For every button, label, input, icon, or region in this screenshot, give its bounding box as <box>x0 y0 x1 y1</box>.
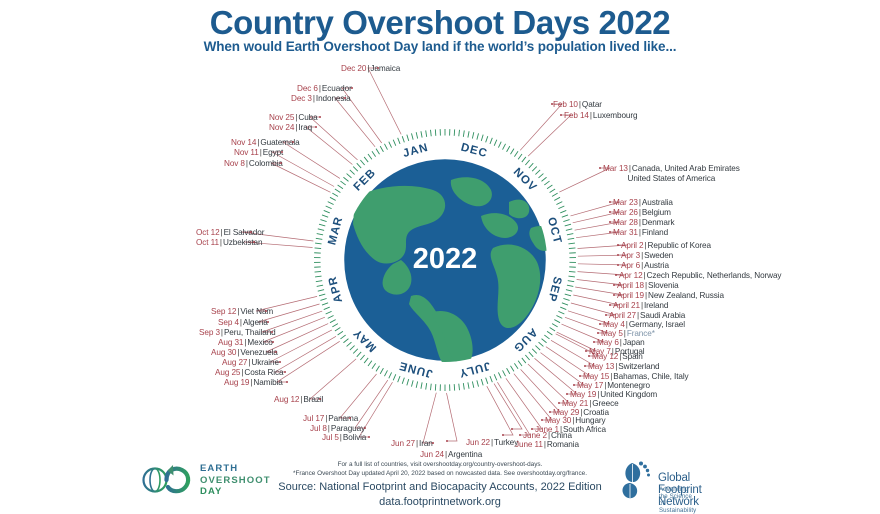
country-name: Colombia <box>249 159 283 168</box>
overshoot-date: May 15 <box>583 372 609 381</box>
leader-dot <box>286 381 288 383</box>
overshoot-date: April 2 <box>621 241 644 250</box>
overshoot-date: Mar 13 <box>603 164 628 173</box>
country-name: Australia <box>642 198 673 207</box>
overshoot-date: Nov 25 <box>269 113 294 122</box>
country-name: Romania <box>547 440 579 449</box>
earth-overshoot-day-logo: EARTH OVERSHOOT DAY <box>140 460 198 505</box>
overshoot-date: Aug 27 <box>222 358 247 367</box>
leader-dot <box>432 442 434 444</box>
country-label: Aug 27|Ukraine <box>222 358 279 368</box>
country-label: Sep 4|Algeria <box>218 318 268 328</box>
country-name: Czech Republic, Netherlands, Norway <box>647 271 782 280</box>
overshoot-date: Apr 6 <box>621 261 640 270</box>
country-label: Oct 11|Uzbekistan <box>196 238 262 248</box>
country-label: Nov 24|Iraq <box>269 123 312 133</box>
country-label: Nov 8|Colombia <box>224 159 283 169</box>
country-label: April 18|Slovenia <box>617 281 679 291</box>
country-label: Sep 3|Peru, Thailand <box>199 328 276 338</box>
country-label: Sep 12|Viet Nam <box>211 307 273 317</box>
overshoot-date: April 27 <box>609 311 636 320</box>
country-name: Japan <box>623 338 645 347</box>
overshoot-date: May 13 <box>588 362 614 371</box>
overshoot-date: April 18 <box>617 281 644 290</box>
gfn-tagline: Advancing the Science of Sustainability <box>659 486 696 514</box>
leader-dot <box>593 341 595 343</box>
footer-note-2: *France Overshoot Day updated April 20, … <box>0 470 880 478</box>
country-name: Egypt <box>263 148 283 157</box>
country-label: Aug 31|Mexico <box>218 338 273 348</box>
leader-dot <box>272 341 274 343</box>
country-label: Aug 30|Venezuela <box>211 348 278 358</box>
leader-dot <box>549 411 551 413</box>
overshoot-date: Nov 24 <box>269 123 294 132</box>
country-name: Hungary <box>575 416 605 425</box>
overshoot-date: May 19 <box>570 390 596 399</box>
globe-year: 2022 <box>413 243 478 275</box>
country-name: Uzbekistan <box>223 238 263 247</box>
country-name: Ukraine <box>251 358 279 367</box>
overshoot-date: April 21 <box>613 301 640 310</box>
country-name: El Salvador <box>224 228 265 237</box>
country-label: April 21|Ireland <box>613 301 668 311</box>
country-label: April 19|New Zealand, Russia <box>617 291 724 301</box>
overshoot-date: May 4 <box>603 320 625 329</box>
leader-dot <box>351 87 353 89</box>
eod-logo-line3: DAY <box>200 486 271 498</box>
country-label: Jun 22|Turkey <box>466 438 518 448</box>
country-label: April 2|Republic of Korea <box>621 241 711 251</box>
country-label: Dec 3|Indonesia <box>291 94 351 104</box>
eod-logo-line2: OVERSHOOT <box>200 475 271 487</box>
eod-logo-line1: EARTH <box>200 463 271 475</box>
country-label: Jun 24|Argentina <box>420 450 482 460</box>
country-name: Republic of Korea <box>648 241 711 250</box>
leader-dot <box>511 428 513 430</box>
country-label: Mar 23|Australia <box>613 198 673 208</box>
leader-dot <box>597 332 599 334</box>
country-label: May 12|Spain <box>592 352 643 362</box>
overshoot-date: Sep 3 <box>199 328 220 337</box>
country-name: Costa Rica <box>244 368 283 377</box>
overshoot-date: Mar 31 <box>613 228 638 237</box>
overshoot-date: Mar 23 <box>613 198 638 207</box>
overshoot-date: May 6 <box>597 338 619 347</box>
leader-dot <box>609 231 611 233</box>
country-name: Panama <box>328 414 358 423</box>
country-name: Spain <box>622 352 642 361</box>
overshoot-date: Jul 17 <box>303 414 324 423</box>
country-name: Viet Nam <box>240 307 273 316</box>
overshoot-date: May 30 <box>545 416 571 425</box>
country-label: Feb 10|Qatar <box>553 100 602 110</box>
country-name: United Kingdom <box>600 390 657 399</box>
overshoot-date: May 17 <box>577 381 603 390</box>
country-name: Ecuador <box>322 84 352 93</box>
overshoot-date: Nov 11 <box>234 148 259 157</box>
leader-dot <box>502 434 504 436</box>
country-name: Luxembourg <box>593 111 638 120</box>
globe-graphic: JANFEBMARAPRMAYJUNEJULYAUGSEPOCTNOVDEC 2… <box>305 120 585 400</box>
leader-dot <box>615 274 617 276</box>
leader-dot <box>609 211 611 213</box>
country-label: Dec 6|Ecuador <box>297 84 352 94</box>
overshoot-date: Apr 12 <box>619 271 643 280</box>
country-name: Greece <box>592 399 618 408</box>
leader-dot <box>267 321 269 323</box>
page-title: Country Overshoot Days 2022 <box>0 4 880 42</box>
country-label: Feb 14|Luxembourg <box>564 111 637 121</box>
overshoot-date: Nov 8 <box>224 159 245 168</box>
leader-dot <box>585 350 587 352</box>
country-name-line2: United States of America <box>603 174 740 184</box>
overshoot-date: Aug 19 <box>224 378 249 387</box>
leader-dot <box>613 284 615 286</box>
overshoot-date: Sep 12 <box>211 307 236 316</box>
overshoot-date: May 5 <box>601 329 623 338</box>
footer-note-1: For a full list of countries, visit over… <box>0 461 880 469</box>
leader-dot <box>605 314 607 316</box>
country-name: Mexico <box>247 338 272 347</box>
leader-dot <box>609 221 611 223</box>
country-label: Mar 13|Canada, United Arab EmiratesUnite… <box>603 164 740 184</box>
overshoot-date: June 11 <box>515 440 543 449</box>
overshoot-date: Dec 6 <box>297 84 318 93</box>
overshoot-date: April 19 <box>617 291 644 300</box>
leader-dot <box>617 254 619 256</box>
country-label: May 13|Switzerland <box>588 362 660 372</box>
leader-dot <box>364 427 366 429</box>
overshoot-date: Dec 20 <box>341 64 366 73</box>
country-label: Dec 20|Jamaica <box>341 64 400 74</box>
overshoot-date: Aug 25 <box>215 368 240 377</box>
leader-dot <box>558 402 560 404</box>
overshoot-date: Jun 24 <box>420 450 444 459</box>
country-name: Iraq <box>298 123 312 132</box>
page-subtitle: When would Earth Overshoot Day land if t… <box>0 39 880 54</box>
overshoot-date: Mar 26 <box>613 208 638 217</box>
country-name: Saudi Arabia <box>640 311 685 320</box>
overshoot-date: Apr 3 <box>621 251 640 260</box>
overshoot-date: Feb 14 <box>564 111 589 120</box>
leaf-footprint-icon <box>612 459 656 503</box>
country-name: Iran <box>419 439 433 448</box>
leader-dot <box>531 428 533 430</box>
country-name: Ireland <box>644 301 668 310</box>
overshoot-date: Nov 14 <box>231 138 256 147</box>
leader-dot <box>446 440 448 442</box>
overshoot-date: Jul 8 <box>310 424 327 433</box>
leader-dot <box>617 264 619 266</box>
country-name: Namibia <box>253 378 282 387</box>
country-name: Austria <box>644 261 669 270</box>
country-name: Slovenia <box>648 281 679 290</box>
overshoot-date: Jun 22 <box>466 438 490 447</box>
country-label: Nov 11|Egypt <box>234 148 283 158</box>
country-label: Nov 14|Guatemala <box>231 138 300 148</box>
footer-url: data.footprintnetwork.org <box>0 496 880 508</box>
country-name: Finland <box>642 228 668 237</box>
leader-dot <box>617 244 619 246</box>
country-label: Jul 5|Bolivia <box>322 433 366 443</box>
leader-dot <box>609 304 611 306</box>
country-label: Oct 12|El Salvador <box>196 228 264 238</box>
leader-dot <box>541 419 543 421</box>
global-footprint-network-logo: Global Footprint Network Advancing the S… <box>612 459 656 508</box>
overshoot-date: May 21 <box>562 399 588 408</box>
overshoot-date: May 12 <box>592 352 618 361</box>
country-label: June 11|Romania <box>515 440 579 450</box>
country-label: Mar 28|Denmark <box>613 218 674 228</box>
country-name: Peru, Thailand <box>224 328 276 337</box>
overshoot-date: June 2 <box>523 431 547 440</box>
leader-dot <box>368 436 370 438</box>
overshoot-date: Oct 12 <box>196 228 220 237</box>
overshoot-date: Dec 3 <box>291 94 312 103</box>
country-name: Cuba <box>298 113 317 122</box>
country-name: Bolivia <box>343 433 366 442</box>
overshoot-date: Jun 27 <box>391 439 415 448</box>
globe-arrow-loop-icon <box>140 460 198 500</box>
country-name: Canada, United Arab Emirates <box>632 164 740 173</box>
country-name: Paraguay <box>331 424 365 433</box>
country-name: Germany, Israel <box>629 320 685 329</box>
country-name: Montenegro <box>607 381 650 390</box>
footer-source: Source: National Footprint and Biocapaci… <box>0 481 880 493</box>
country-label: Aug 25|Costa Rica <box>215 368 283 378</box>
leader-dot <box>279 361 281 363</box>
country-label: Jun 27|Iran <box>391 439 433 449</box>
country-label: Apr 3|Sweden <box>621 251 673 261</box>
country-name: Switzerland <box>618 362 659 371</box>
country-name: New Zealand, Russia <box>648 291 724 300</box>
country-name: Bahamas, Chile, Italy <box>613 372 688 381</box>
overshoot-date: Sep 4 <box>218 318 239 327</box>
country-label: Apr 12|Czech Republic, Netherlands, Norw… <box>619 271 781 281</box>
overshoot-date: Aug 30 <box>211 348 236 357</box>
country-name: Venezuela <box>240 348 277 357</box>
overshoot-date: Aug 12 <box>274 395 299 404</box>
country-name: Qatar <box>582 100 602 109</box>
country-name: Sweden <box>644 251 673 260</box>
country-name: Belgium <box>642 208 671 217</box>
country-label: Mar 26|Belgium <box>613 208 671 218</box>
country-label: Aug 19|Namibia <box>224 378 283 388</box>
leader-dot <box>599 323 601 325</box>
country-name: France* <box>627 329 655 338</box>
country-name: Denmark <box>642 218 675 227</box>
overshoot-date: Oct 11 <box>196 238 219 247</box>
country-label: Nov 25|Cuba <box>269 113 318 123</box>
country-name: Algeria <box>243 318 268 327</box>
leader-dot <box>319 116 321 118</box>
leader-dot <box>599 167 601 169</box>
leader-dot <box>519 434 521 436</box>
country-name: Argentina <box>448 450 482 459</box>
leader-dot <box>609 201 611 203</box>
leader-dot <box>613 294 615 296</box>
leader-dot <box>560 114 562 116</box>
overshoot-date: Feb 10 <box>553 100 578 109</box>
leader-dot <box>284 371 286 373</box>
country-label: Apr 6|Austria <box>621 261 669 271</box>
overshoot-date: Mar 28 <box>613 218 638 227</box>
overshoot-date: Aug 31 <box>218 338 243 347</box>
overshoot-date: Jul 5 <box>322 433 339 442</box>
country-label: Aug 12|Brazil <box>274 395 323 405</box>
country-name: Jamaica <box>370 64 400 73</box>
country-name: China <box>551 431 572 440</box>
country-label: Mar 31|Finland <box>613 228 668 238</box>
leader-dot <box>584 365 586 367</box>
infographic-canvas: Country Overshoot Days 2022 When would E… <box>0 0 880 512</box>
